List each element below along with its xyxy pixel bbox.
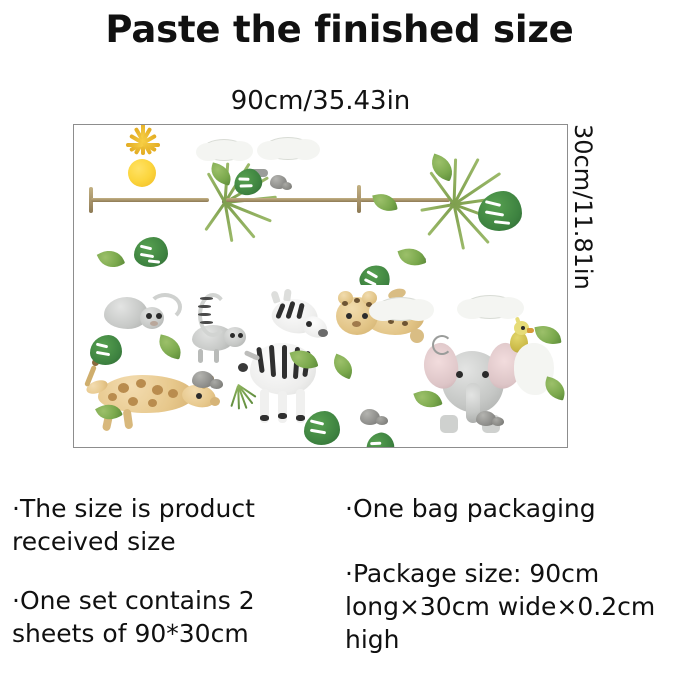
cloud-icon: [376, 297, 426, 321]
note-set-contains: ·One set contains 2 sheets of 90*30cm: [12, 584, 342, 650]
rock-icon: [210, 379, 223, 389]
notes-left-column: ·The size is product received size ·One …: [12, 492, 342, 650]
leaf-icon: [329, 354, 357, 380]
leaf-icon: [97, 245, 126, 273]
lemur-icon: [104, 293, 174, 341]
page-title: Paste the finished size: [0, 8, 679, 51]
note-size-is-received-size: ·The size is product received size: [12, 492, 342, 558]
jungle-animals-sheet: [74, 285, 567, 447]
note-package-size: ·Package size: 90cm long×30cm wide×0.2cm…: [345, 557, 679, 656]
monstera-leaf-icon: [304, 411, 340, 445]
notes-right-column: ·One bag packaging ·Package size: 90cm l…: [345, 492, 679, 656]
leaf-icon: [372, 191, 397, 214]
palm-tree-icon: [226, 198, 361, 202]
leaf-icon: [397, 244, 426, 270]
width-dimension-label: 90cm/35.43in: [73, 86, 568, 116]
monstera-leaf-icon: [478, 191, 522, 231]
monstera-leaf-icon: [134, 237, 168, 267]
monstera-leaf-icon: [356, 261, 393, 286]
monstera-leaf-icon: [90, 335, 122, 365]
cloud-icon: [202, 139, 246, 161]
height-dimension-label: 30cm/11.81in: [569, 124, 597, 448]
sticker-sheet-frame: [73, 124, 568, 448]
palm-tree-icon: [91, 198, 209, 202]
rock-icon: [492, 417, 504, 426]
tropical-foliage-sheet: [74, 125, 567, 286]
cloud-icon: [264, 137, 312, 160]
note-one-bag-packaging: ·One bag packaging: [345, 492, 679, 525]
rock-icon: [376, 416, 388, 425]
cloud-icon: [464, 295, 516, 319]
monstera-leaf-icon: [363, 430, 396, 447]
leaf-icon: [542, 376, 567, 400]
